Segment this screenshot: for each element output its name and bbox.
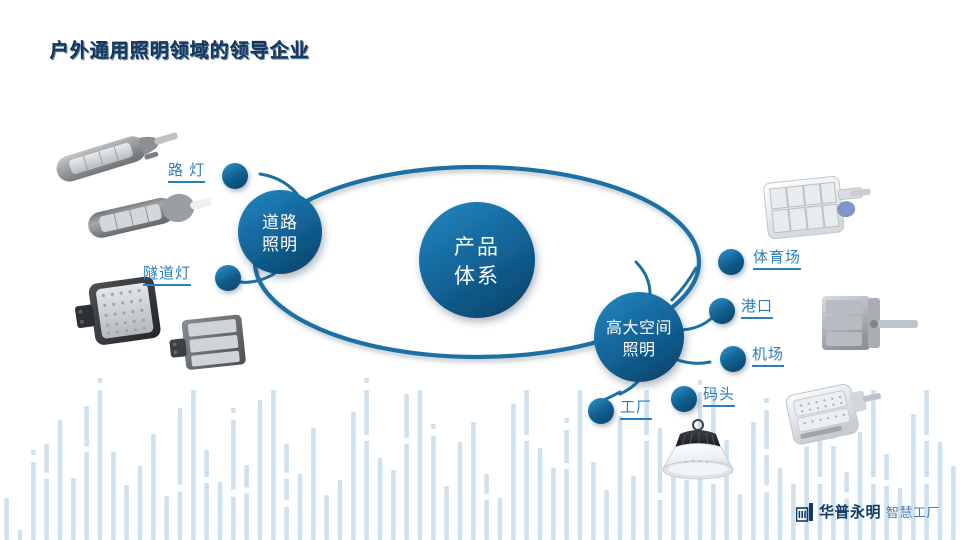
center-node[interactable]: 产品 体系 (419, 202, 535, 318)
right-node-high-space-lighting[interactable]: 高大空间 照明 (594, 292, 684, 382)
bullet-dot-street-lamp[interactable] (222, 163, 248, 189)
bullet-dot-stadium[interactable] (718, 249, 744, 275)
label-tunnel-lamp[interactable]: 隧道灯 (143, 266, 191, 286)
label-port[interactable]: 港口 (741, 299, 773, 319)
center-node-line1: 产品 (454, 236, 500, 259)
bullet-dot-tunnel-lamp[interactable] (215, 265, 241, 291)
slide-canvas: 户外通用照明领域的领导企业 (0, 0, 960, 540)
bullet-dot-port[interactable] (709, 298, 735, 324)
company-logo: 华普永明 智慧工厂 (796, 501, 940, 522)
left-node-line2: 照明 (262, 235, 298, 254)
label-airport[interactable]: 机场 (752, 347, 784, 367)
label-wharf[interactable]: 码头 (703, 387, 735, 407)
left-node-line1: 道路 (262, 213, 298, 232)
label-stadium[interactable]: 体育场 (753, 250, 801, 270)
right-node-line2: 照明 (622, 341, 655, 359)
right-node-line1: 高大空间 (606, 319, 672, 337)
bullet-dot-airport[interactable] (720, 346, 746, 372)
logo-sub-name: 智慧工厂 (886, 502, 940, 521)
bullet-dot-factory[interactable] (588, 398, 614, 424)
center-node-line2: 体系 (454, 265, 500, 288)
factory-logo-icon (796, 502, 814, 522)
bullet-dot-wharf[interactable] (671, 386, 697, 412)
label-street-lamp[interactable]: 路 灯 (168, 163, 205, 183)
logo-company-name: 华普永明 (819, 501, 881, 522)
label-factory[interactable]: 工厂 (620, 400, 652, 420)
left-node-road-lighting[interactable]: 道路 照明 (238, 190, 322, 274)
